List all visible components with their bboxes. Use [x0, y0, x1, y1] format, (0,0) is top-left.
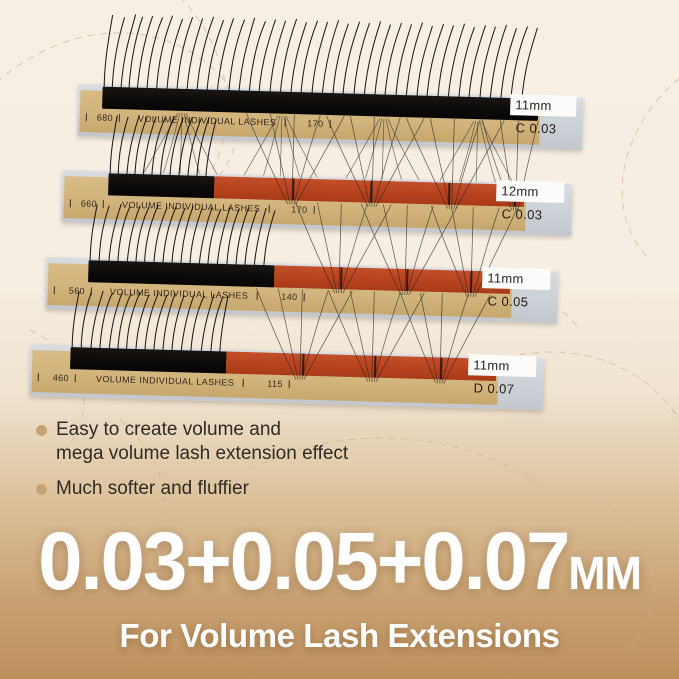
- ruler-tick: [38, 373, 39, 381]
- product-infographic: 680 VOLUME INDIVIDUAL LASHES 170 11mm C …: [0, 0, 679, 679]
- ruler-tick: [289, 380, 290, 388]
- tray-length-label: 11mm: [468, 354, 537, 377]
- ruler-tick: [86, 113, 87, 121]
- bullet-dot-icon: [36, 484, 47, 495]
- bullet-item: Easy to create volume and mega volume la…: [36, 418, 456, 466]
- ruler-tick: [242, 379, 243, 387]
- tray-length-value: 12mm: [501, 183, 539, 199]
- ruler-tick: [75, 374, 76, 382]
- lash-band: [70, 347, 227, 373]
- bullet-dot-icon: [36, 425, 47, 436]
- headline-value: 0.03+0.05+0.07: [38, 516, 568, 607]
- feature-bullet-list: Easy to create volume and mega volume la…: [36, 418, 456, 512]
- headline-subtitle: For Volume Lash Extensions: [0, 617, 679, 655]
- headline-unit: MM: [568, 547, 640, 599]
- bullet-text: Easy to create volume and mega volume la…: [56, 418, 348, 466]
- lash-fan-strands: [222, 287, 504, 385]
- tray-length-value: 11mm: [473, 357, 510, 373]
- headline-thickness: 0.03+0.05+0.07MM: [10, 520, 669, 615]
- bullet-item: Much softer and fluffier: [36, 477, 456, 501]
- ruler-tick: [54, 286, 55, 294]
- lash-fan-strands: [212, 112, 544, 211]
- tray-length-value: 11mm: [515, 97, 552, 113]
- tray-right-count: 115: [267, 379, 283, 389]
- lash-tray-photo: 680 VOLUME INDIVIDUAL LASHES 170 11mm C …: [0, 0, 679, 420]
- lash-band: [108, 173, 215, 198]
- ruler-tick: [70, 199, 71, 207]
- tray-length-value: 11mm: [487, 270, 524, 286]
- tray-left-count: 460: [53, 373, 69, 383]
- tray-length-label: 12mm: [496, 180, 565, 203]
- tray-curl-code: D 0.07: [473, 380, 514, 396]
- tray-length-label: 11mm: [510, 94, 577, 117]
- tray-length-label: 11mm: [482, 267, 551, 290]
- bullet-text: Much softer and fluffier: [56, 477, 249, 501]
- headline-block: 0.03+0.05+0.07MM For Volume Lash Extensi…: [0, 520, 679, 655]
- lash-tray-4: 460 VOLUME INDIVIDUAL LASHES 115 11mm D …: [29, 344, 544, 410]
